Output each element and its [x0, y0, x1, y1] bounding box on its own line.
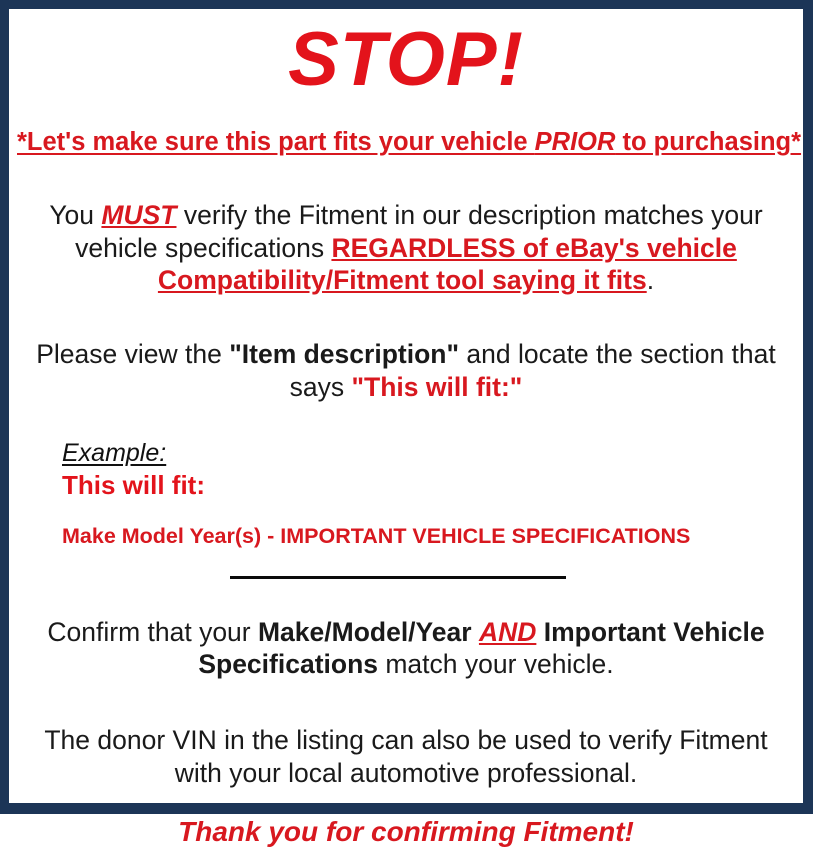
example-label: Example:	[62, 439, 795, 469]
confirm-text-part1: Confirm that your	[47, 617, 258, 647]
paragraph-confirm: Confirm that your Make/Model/Year AND Im…	[17, 616, 795, 681]
banner-warning: *Let's make sure this part fits your veh…	[17, 128, 795, 157]
banner-suffix: to purchasing*	[615, 128, 801, 156]
must-emphasis: MUST	[101, 200, 176, 230]
example-spec-line: Make Model Year(s) - IMPORTANT VEHICLE S…	[62, 524, 795, 550]
example-block: Example: This will fit: Make Model Year(…	[17, 439, 795, 550]
divider-wrap	[17, 576, 795, 580]
desc-text-part1: Please view the	[36, 339, 229, 369]
confirm-space1	[472, 617, 479, 647]
notice-inner: STOP! *Let's make sure this part fits yo…	[9, 22, 803, 816]
horizontal-rule	[230, 576, 566, 579]
make-model-year-emphasis: Make/Model/Year	[258, 617, 472, 647]
must-text-part3: .	[647, 265, 654, 295]
item-description-emphasis: "Item description"	[229, 339, 459, 369]
must-text-part1: You	[49, 200, 101, 230]
fitment-notice-card: STOP! *Let's make sure this part fits yo…	[0, 0, 813, 814]
page-title: STOP!	[17, 22, 795, 98]
closing-message: Thank you for confirming Fitment!	[17, 815, 795, 849]
example-fit-header: This will fit:	[62, 469, 795, 502]
confirm-text-part4: match your vehicle.	[378, 649, 614, 679]
banner-emphasis-prior: PRIOR	[535, 128, 616, 156]
banner-prefix: *Let's make sure this part fits your veh…	[17, 128, 535, 156]
paragraph-donor-vin: The donor VIN in the listing can also be…	[17, 724, 795, 789]
confirm-space2	[536, 617, 543, 647]
this-will-fit-emphasis: "This will fit:"	[351, 372, 522, 402]
and-emphasis: AND	[479, 617, 536, 647]
paragraph-item-description: Please view the "Item description" and l…	[17, 338, 795, 403]
paragraph-must-verify: You MUST verify the Fitment in our descr…	[17, 199, 795, 296]
